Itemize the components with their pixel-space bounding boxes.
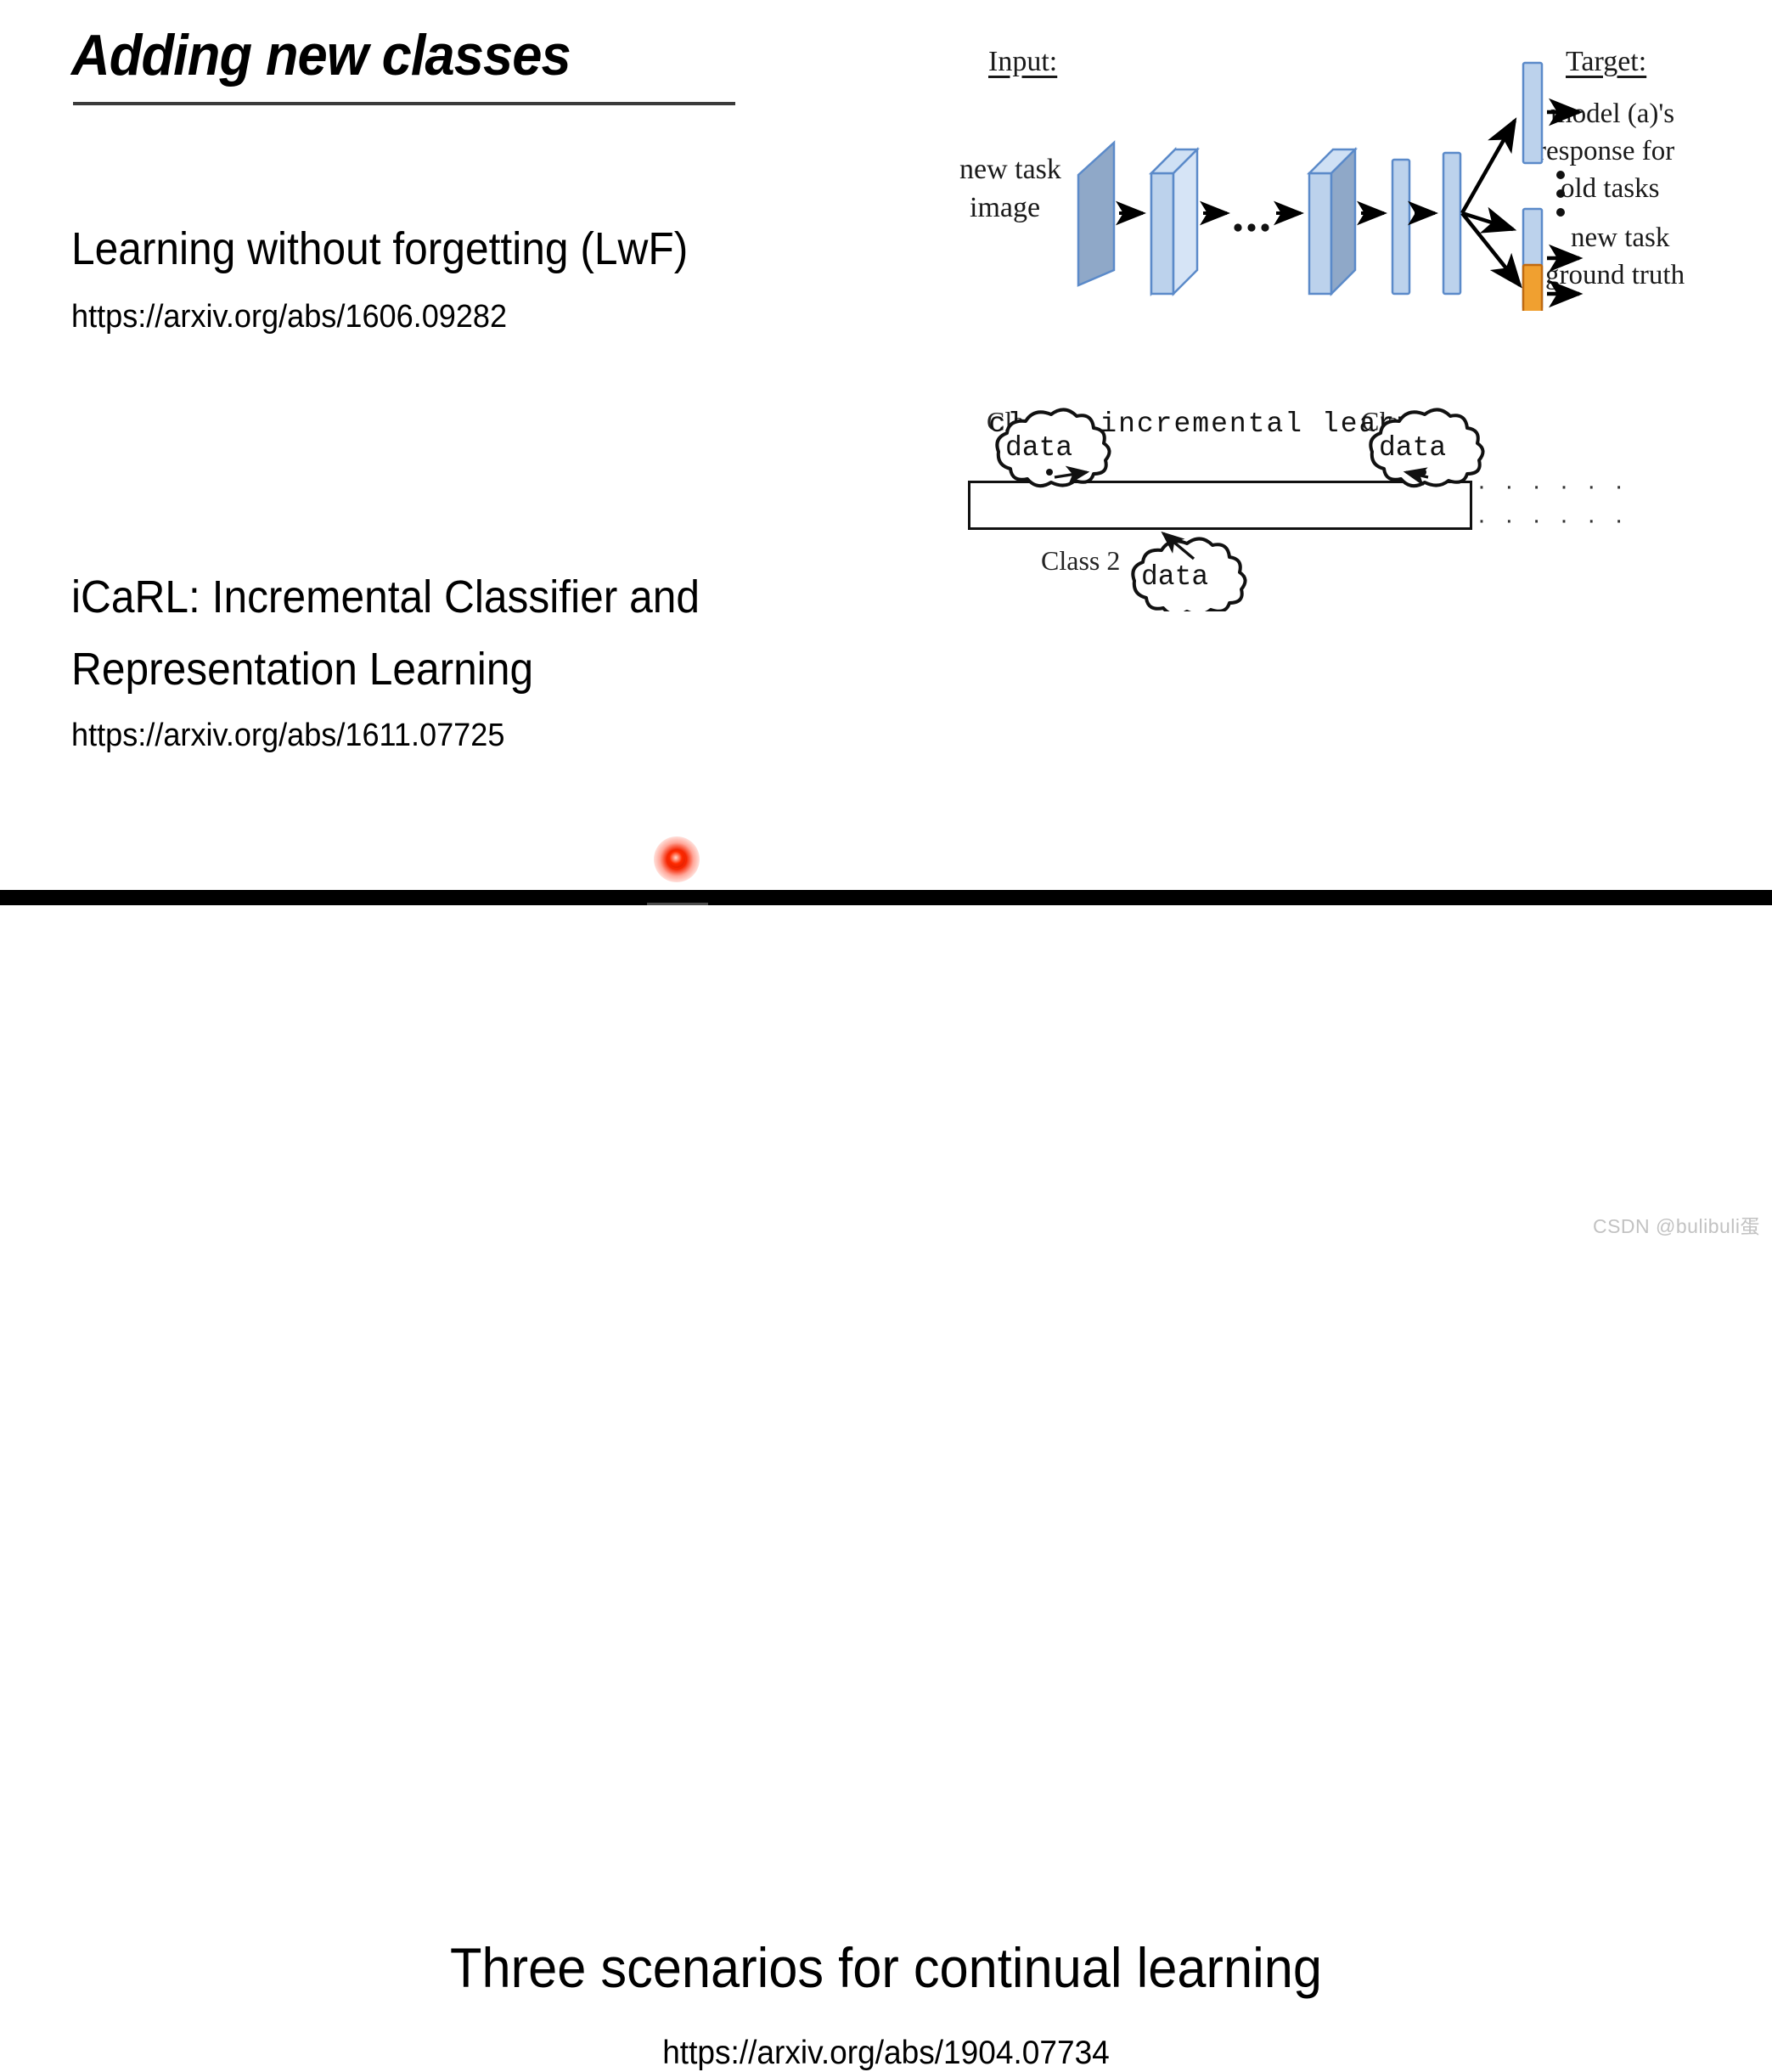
svg-text:data: data <box>1005 432 1072 464</box>
input-image-plane <box>1078 143 1114 285</box>
cil-diagram-svg: data data data <box>968 399 1766 611</box>
output-head-old-1 <box>1523 63 1542 163</box>
fc-layer-2 <box>1443 153 1460 294</box>
lwf-url-link[interactable]: https://arxiv.org/abs/1606.09282 <box>71 299 507 336</box>
input-label: Input: <box>988 46 1057 78</box>
input-caption-line-1: new task <box>959 154 1061 186</box>
lwf-heading: Learning without forgetting (LwF) <box>71 222 688 277</box>
laser-pointer-dot <box>654 836 700 882</box>
icarl-url-link[interactable]: https://arxiv.org/abs/1611.07725 <box>71 718 504 755</box>
fc-layer-1 <box>1392 160 1409 294</box>
conv-ellipsis-dots <box>1234 223 1269 231</box>
svg-text:data: data <box>1141 561 1208 593</box>
conv-block-1 <box>1151 149 1197 294</box>
conv-block-2 <box>1309 149 1355 294</box>
icarl-heading-line-2: Representation Learning <box>71 643 533 697</box>
input-caption-line-2: image <box>970 192 1040 224</box>
csdn-watermark: CSDN @bulibuli蛋 <box>1593 1210 1760 1239</box>
bottom-slide-url-link[interactable]: https://arxiv.org/abs/1904.07734 <box>44 2035 1728 2072</box>
svg-text:data: data <box>1379 432 1446 464</box>
slide-separator-bar <box>0 890 1772 905</box>
class-incremental-learner-diagram: Class 1 Class 3 Class 2 class-incrementa… <box>968 399 1766 611</box>
lwf-network-diagram: Input: Target: new task image model (a)'… <box>976 31 1758 311</box>
bottom-slide-title: Three scenarios for continual learning <box>62 1937 1710 1999</box>
laser-pointer-core <box>668 851 685 868</box>
output-head-new-task <box>1523 265 1542 311</box>
lwf-network-svg <box>1070 31 1664 311</box>
bottom-slide: Three scenarios for continual learning h… <box>0 905 1772 1246</box>
title-underline-rule <box>73 102 735 105</box>
branch-arrow-head-1 <box>1462 121 1515 213</box>
top-slide: Adding new classes Learning without forg… <box>0 0 1772 890</box>
icarl-heading-line-1: iCaRL: Incremental Classifier and <box>71 571 700 625</box>
output-heads-ellipsis-dots <box>1556 171 1565 217</box>
page-title: Adding new classes <box>71 25 571 86</box>
